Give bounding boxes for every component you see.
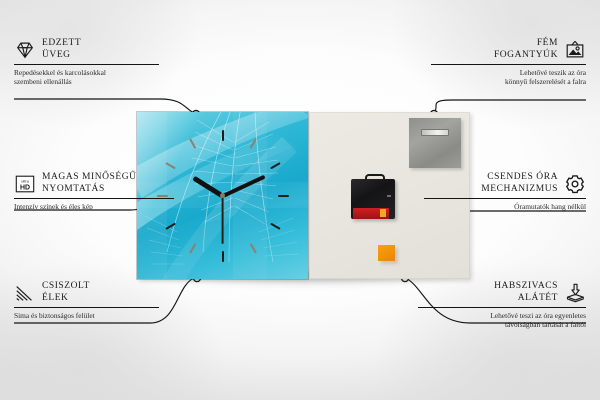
mechanism-port xyxy=(387,195,391,197)
callout-rule xyxy=(431,64,586,65)
callout-title: EDZETT ÜVEG xyxy=(42,38,81,61)
product-image xyxy=(137,112,470,279)
svg-text:HD: HD xyxy=(20,184,30,191)
diamond-icon xyxy=(14,39,36,61)
callout-metal-hangers: FÉM FOGANTYÚK Lehetővé teszik az óra kön… xyxy=(431,38,586,87)
callout-title: MAGAS MINŐSÉGŰ NYOMTATÁS xyxy=(42,172,137,195)
callout-quiet-mechanism: CSENDES ÓRA MECHANIZMUS Óramutatók hang … xyxy=(424,172,586,211)
picture-frame-hanging-icon xyxy=(564,39,586,61)
callout-subtitle: Sima és biztonságos felület xyxy=(14,311,159,320)
callout-high-quality-print: ultra HD MAGAS MINŐSÉGŰ NYOMTATÁS Intenz… xyxy=(14,172,174,211)
clock-second-hand xyxy=(222,196,224,244)
callout-rule xyxy=(14,307,159,308)
callout-rule xyxy=(14,64,159,65)
callout-rule xyxy=(424,198,586,199)
press-down-pad-icon xyxy=(564,282,586,304)
mechanism-label xyxy=(353,208,389,219)
hanger-slot xyxy=(421,129,449,136)
leader-line-tempered-glass xyxy=(14,99,194,113)
callout-rule xyxy=(418,307,586,308)
foam-spacer-pad xyxy=(378,245,395,261)
callout-title: HABSZIVACS ALÁTÉT xyxy=(494,281,558,304)
callout-subtitle: Repedésekkel és karcolásokkal szembeni e… xyxy=(14,68,159,87)
infographic-canvas: EDZETT ÜVEG Repedésekkel és karcolásokka… xyxy=(0,0,600,400)
callout-tempered-glass: EDZETT ÜVEG Repedésekkel és karcolásokka… xyxy=(14,38,159,87)
callout-rule xyxy=(14,198,174,199)
svg-text:ultra: ultra xyxy=(21,179,29,183)
callout-subtitle: Óramutatók hang nélkül xyxy=(424,202,586,211)
callout-foam-pad: HABSZIVACS ALÁTÉT Lehetővé teszi az óra … xyxy=(418,281,586,330)
mechanism-body xyxy=(351,179,395,219)
gear-icon xyxy=(564,173,586,195)
callout-title: FÉM FOGANTYÚK xyxy=(494,38,558,61)
callout-subtitle: Intenzív színek és éles kép xyxy=(14,202,174,211)
clock-center-pin xyxy=(220,193,225,198)
ultra-hd-icon: ultra HD xyxy=(14,173,36,195)
callout-polished-edges: CSISZOLT ÉLEK Sima és biztonságos felüle… xyxy=(14,281,159,320)
metal-hanger-plate xyxy=(409,118,461,168)
callout-title: CSISZOLT ÉLEK xyxy=(42,281,90,304)
callout-subtitle: Lehetővé teszi az óra egyenletes távolsá… xyxy=(418,311,586,330)
callout-title: CSENDES ÓRA MECHANIZMUS xyxy=(481,172,558,195)
polished-edges-icon xyxy=(14,282,36,304)
callout-subtitle: Lehetővé teszik az óra könnyű felszerelé… xyxy=(431,68,586,87)
clock-mechanism xyxy=(351,174,395,219)
